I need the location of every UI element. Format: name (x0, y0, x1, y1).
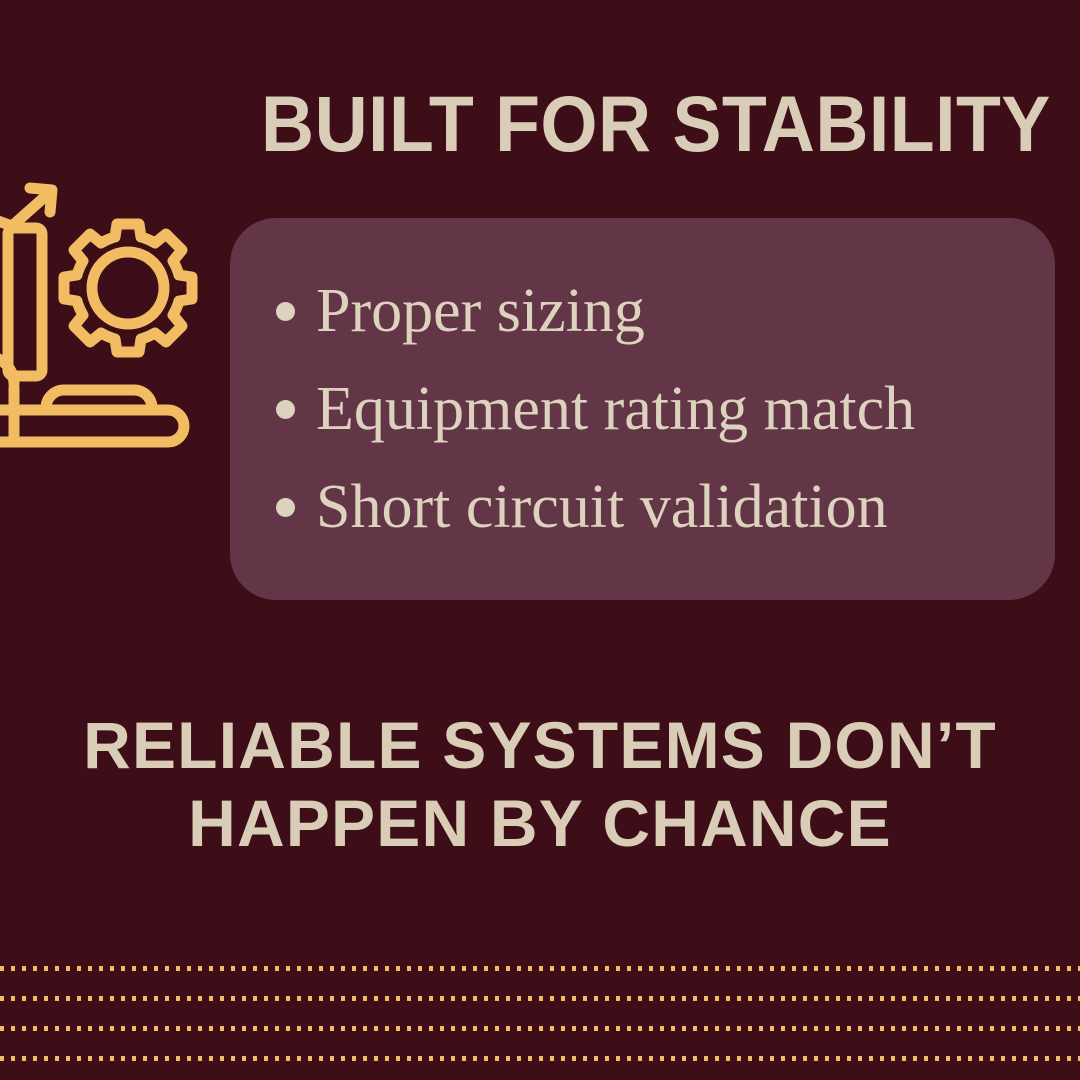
list-item-label: Short circuit validation (316, 475, 888, 539)
dotted-divider (0, 966, 1080, 971)
list-item-label: Proper sizing (316, 279, 645, 343)
list-item: Short circuit validation (276, 466, 1015, 548)
bullet-dot-icon (276, 400, 295, 419)
list-item: Proper sizing (276, 270, 1015, 352)
tagline: RELIABLE SYSTEMS DON’T HAPPEN BY CHANCE (40, 706, 1040, 862)
list-item: Equipment rating match (276, 368, 1015, 450)
bullet-dot-icon (276, 498, 295, 517)
list-item-label: Equipment rating match (316, 377, 915, 441)
page-title: BUILT FOR STABILITY (261, 82, 1033, 166)
poster-canvas: BUILT FOR STABILITY Proper sizing Equipm… (0, 0, 1080, 1080)
tagline-line-2: HAPPEN BY CHANCE (40, 784, 1040, 862)
dotted-divider (0, 996, 1080, 1001)
feature-card: Proper sizing Equipment rating match Sho… (230, 218, 1055, 600)
dotted-divider (0, 1026, 1080, 1031)
tagline-line-1: RELIABLE SYSTEMS DON’T (40, 706, 1040, 784)
dotted-divider (0, 1056, 1080, 1061)
bullet-dot-icon (276, 302, 295, 321)
feature-list: Proper sizing Equipment rating match Sho… (276, 270, 1015, 548)
growth-gear-stability-icon (0, 88, 206, 478)
